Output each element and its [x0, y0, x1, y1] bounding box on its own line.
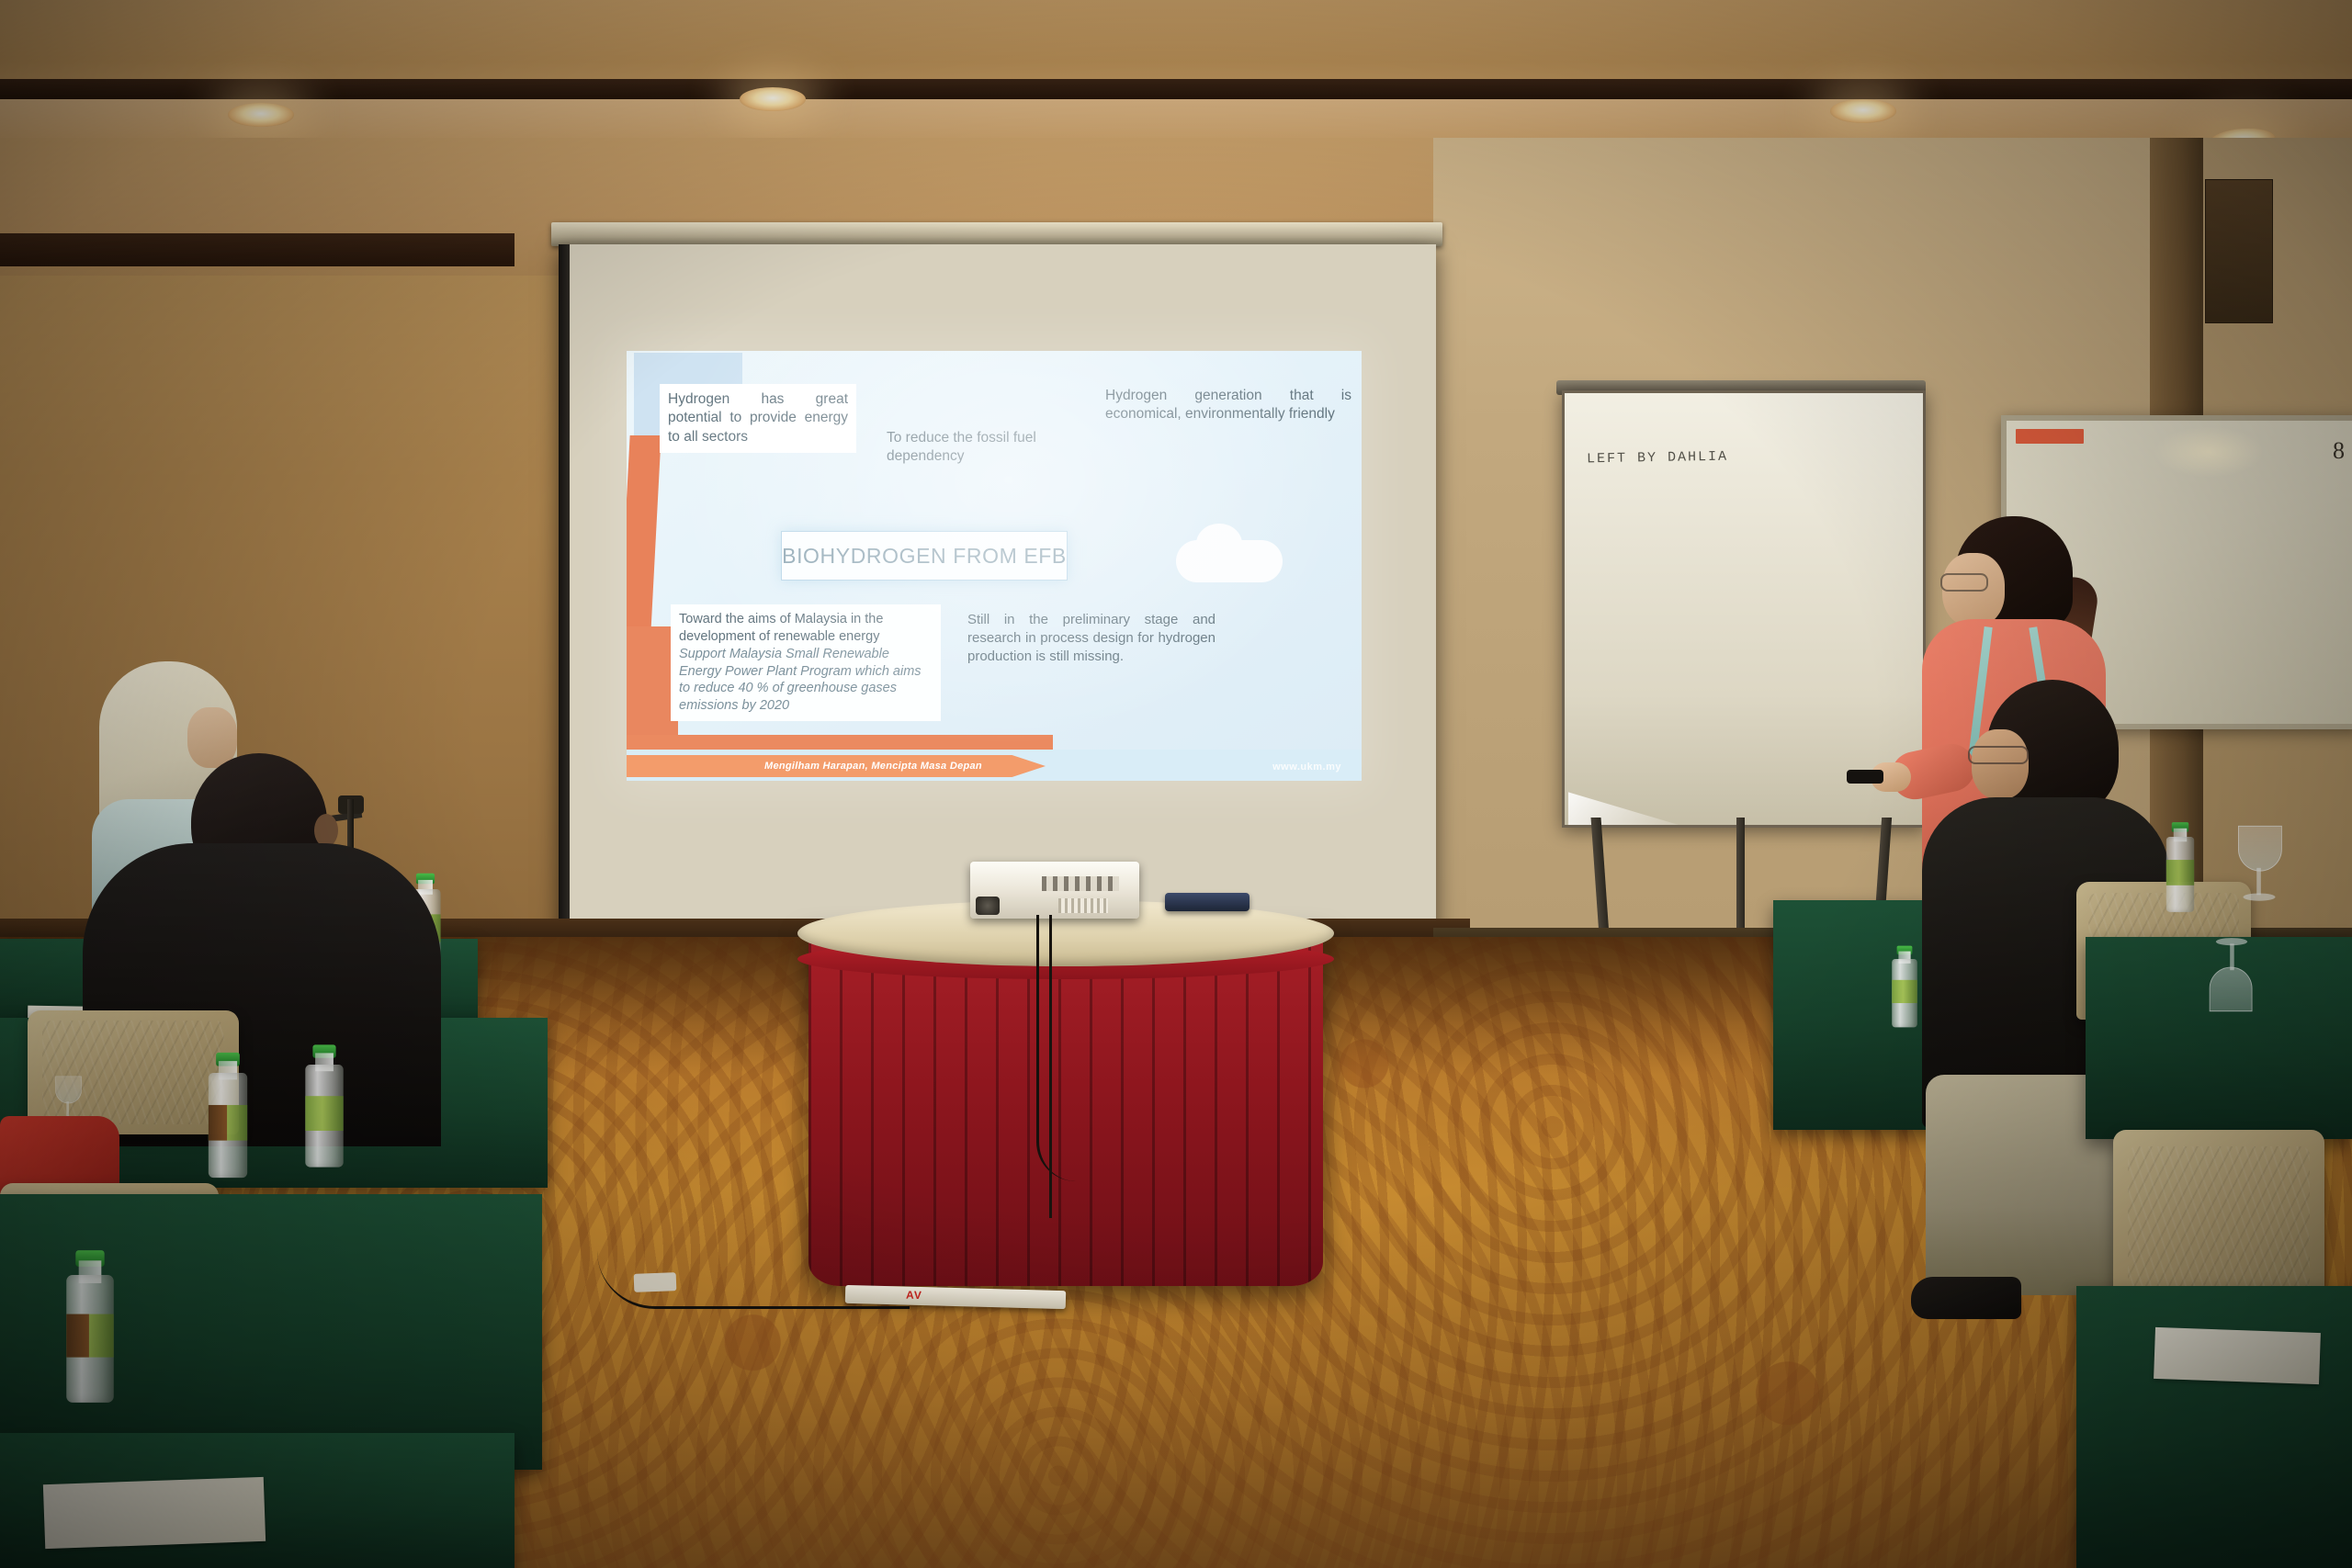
glass-bowl — [2238, 826, 2282, 872]
wall-speaker — [2205, 179, 2273, 323]
projection-screen-housing — [551, 222, 1442, 246]
bottle-label — [1892, 980, 1917, 1003]
glass-stem — [2230, 943, 2234, 970]
ceiling-downlight-icon — [1830, 99, 1896, 123]
slide-footer-tagline: Mengilham Harapan, Mencipta Masa Depan — [764, 761, 982, 772]
slide-text-bottom-right: Still in the preliminary stage and resea… — [959, 604, 1224, 672]
bottle-label-shadow — [66, 1314, 89, 1358]
glass-foot — [2244, 893, 2276, 900]
projector — [970, 862, 1139, 919]
water-bottle — [209, 1053, 247, 1178]
table-paper — [43, 1477, 266, 1549]
slide-footer-url: www.ukm.my — [1272, 761, 1341, 773]
slide-cloud-shape — [1176, 540, 1283, 582]
slide-text-bottom-left: Toward the aims of Malaysia in the devel… — [671, 604, 941, 721]
water-bottle — [305, 1044, 343, 1167]
wine-glass — [2208, 932, 2256, 1011]
conference-room-photo: Hydrogen has great potential to provide … — [0, 0, 2352, 1568]
slide-text-top-left: Hydrogen has great potential to provide … — [660, 384, 856, 453]
bottle-label-shadow — [209, 1105, 227, 1141]
presenter-remote — [1847, 770, 1883, 784]
glasses-icon — [1940, 573, 1988, 592]
slide-bottom-left-italic: Support Malaysia Small Renewable Energy … — [679, 646, 933, 715]
glass-bowl — [2210, 967, 2253, 1012]
ceiling-downlight-icon — [228, 103, 294, 127]
table-paper — [2154, 1327, 2321, 1384]
flipchart: LEFT BY DAHLIA — [1562, 390, 1926, 828]
water-bottle — [1892, 946, 1917, 1028]
whiteboard-glare — [2154, 426, 2264, 478]
glasses-icon — [1968, 746, 2029, 764]
slide-text-top-center: To reduce the fossil fuel dependency — [878, 423, 1086, 473]
wall-trim-dark — [0, 233, 514, 266]
water-bottle — [2166, 822, 2194, 912]
ear — [314, 814, 338, 847]
projector-ports — [1042, 876, 1119, 891]
flipchart-page-curl — [1568, 775, 1679, 825]
slide-title-box: BIOHYDROGEN FROM EFB — [781, 531, 1068, 581]
water-bottle — [66, 1250, 114, 1403]
glass-foot — [2216, 938, 2247, 945]
bottle-label — [305, 1096, 343, 1131]
glass-bowl — [55, 1077, 82, 1104]
cable-plug — [634, 1272, 677, 1292]
projector-cable — [1049, 915, 1107, 1218]
projected-slide: Hydrogen has great potential to provide … — [627, 351, 1362, 781]
slide-text-top-right: Hydrogen generation that is economical, … — [1097, 380, 1360, 431]
shoe — [1911, 1277, 2021, 1319]
power-strip-brand: AV — [906, 1289, 922, 1302]
face — [1972, 729, 2029, 799]
flipchart-note: LEFT BY DAHLIA — [1587, 449, 1728, 468]
slide-bottom-left-heading: Toward the aims of Malaysia in the devel… — [679, 612, 883, 644]
wine-glass — [2234, 826, 2283, 907]
projector-case — [1165, 893, 1249, 911]
projector-lens-icon — [976, 897, 1000, 915]
slide-footer: Mengilham Harapan, Mencipta Masa Depan w… — [627, 750, 1362, 781]
whiteboard-corner-mark: 8 — [2333, 437, 2345, 465]
slide-title-text: BIOHYDROGEN FROM EFB — [782, 544, 1067, 569]
projection-screen-edge — [559, 244, 570, 979]
ceiling-soffit-beam — [0, 79, 2352, 99]
slide-footer-chevron: Mengilham Harapan, Mencipta Masa Depan — [627, 755, 1046, 777]
whiteboard-label-sticker — [2016, 429, 2084, 444]
glass-stem — [2256, 868, 2261, 895]
ceiling-downlight-icon — [740, 87, 806, 111]
bottle-label — [2166, 860, 2194, 886]
attendee-table — [2076, 1286, 2352, 1568]
projector-vents — [1058, 898, 1108, 913]
